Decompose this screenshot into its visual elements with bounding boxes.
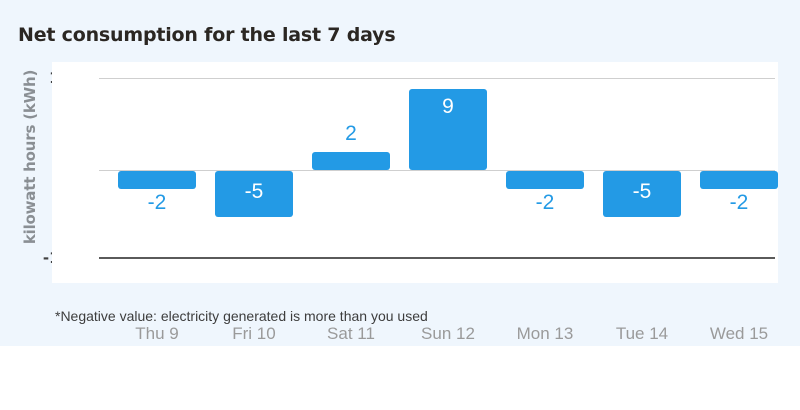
x-tick-label-sun-12: Sun 12	[409, 324, 487, 344]
bar-value-label-wed-15: -2	[700, 191, 778, 215]
chart-title: Net consumption for the last 7 days	[18, 24, 395, 46]
bar-value-label-fri-10: -5	[215, 180, 293, 204]
bar-value-label-sat-11: 2	[312, 122, 390, 146]
y-axis-label: kilowatt hours (kWh)	[21, 57, 39, 257]
bar-value-label-thu-9: -2	[118, 191, 196, 215]
chart-footnote: *Negative value: electricity generated i…	[55, 308, 428, 324]
x-tick-label-mon-13: Mon 13	[506, 324, 584, 344]
gridline-neg10-axis	[99, 257, 775, 259]
plot-area: -2 -5 2 9 -2 -5 -2 Thu 9 Fri 10 Sat 11 S…	[99, 62, 778, 283]
x-tick-label-fri-10: Fri 10	[215, 324, 293, 344]
bar-thu-9[interactable]	[118, 171, 196, 189]
bar-mon-13[interactable]	[506, 171, 584, 189]
bar-value-label-mon-13: -2	[506, 191, 584, 215]
x-tick-label-sat-11: Sat 11	[312, 324, 390, 344]
bar-sat-11[interactable]	[312, 152, 390, 170]
x-tick-label-thu-9: Thu 9	[118, 324, 196, 344]
bar-value-label-sun-12: 9	[409, 95, 487, 119]
chart-page: Net consumption for the last 7 days kilo…	[0, 0, 800, 410]
x-tick-label-tue-14: Tue 14	[603, 324, 681, 344]
gridline-10	[99, 78, 775, 79]
bar-value-label-tue-14: -5	[603, 180, 681, 204]
x-tick-label-wed-15: Wed 15	[700, 324, 778, 344]
bar-wed-15[interactable]	[700, 171, 778, 189]
